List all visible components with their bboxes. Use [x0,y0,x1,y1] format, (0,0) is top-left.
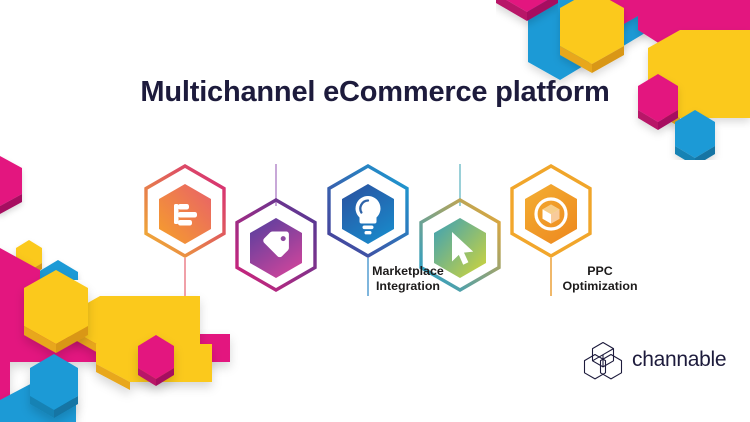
deco-cyan-cube-bl [30,354,78,418]
node-label-ppc-optimization: PPC Optimization [526,264,674,294]
decoration-left-edge [0,150,90,280]
deco-yellow-cube [24,270,88,353]
hexagon-chain-diagram: Feed Management Marketplace Integration … [133,128,613,328]
deco-yellow-hex-small-left [16,240,42,277]
deco-cyan-band-bottom [0,380,76,422]
slide-canvas: Multichannel eCommerce platform [0,0,750,422]
diagram-node-insights-analytics[interactable] [329,166,407,256]
deco-cyan-cube-small [675,110,715,160]
deco-yellow-cube-large [560,0,624,73]
channable-logo: channable [583,340,726,380]
deco-magenta-shapes [578,0,750,84]
diagram-node-marketplace-integration[interactable] [237,200,315,290]
diagram-node-creatives[interactable] [512,166,590,256]
page-title: Multichannel eCommerce platform [0,76,750,109]
channable-logo-mark [583,340,623,380]
diagram-node-feed-management[interactable] [146,166,224,256]
deco-magenta-hex-left [0,156,22,214]
node-label-marketplace-integration: Marketplace Integration [334,264,482,294]
deco-cyan-hex-left [38,260,78,280]
deco-magenta-cube-bl [138,335,174,386]
channable-logo-text: channable [632,348,726,372]
decoration-top-center-hex [496,0,558,30]
